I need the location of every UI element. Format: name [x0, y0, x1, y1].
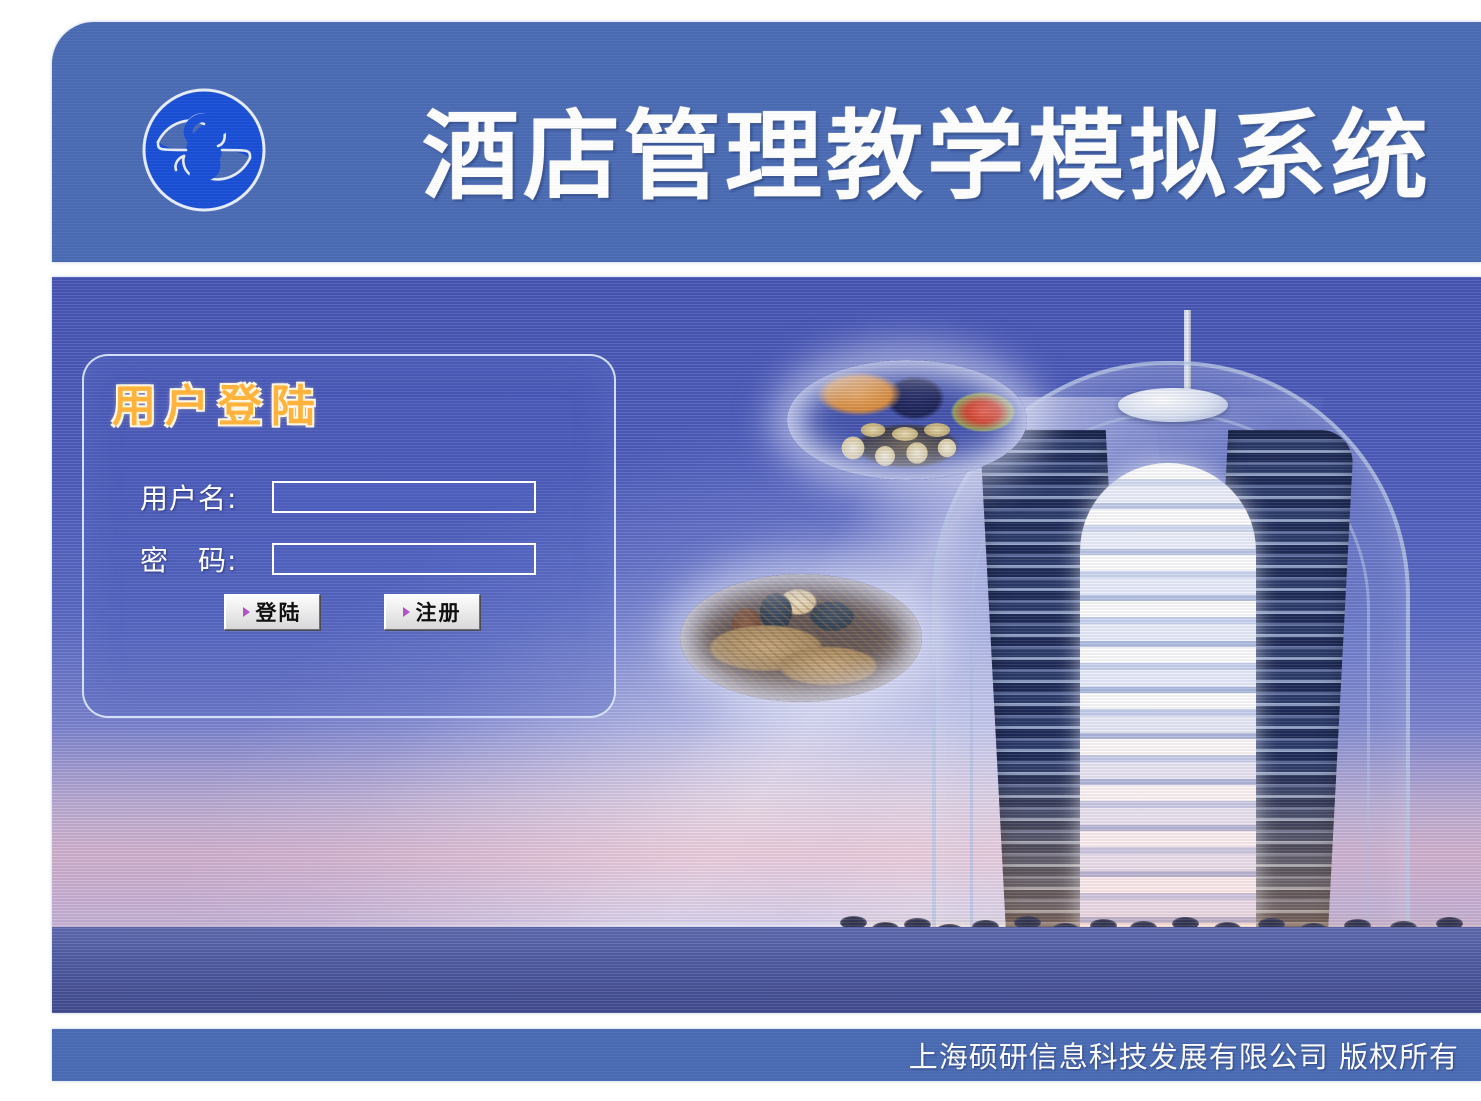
company-s-globe-logo-icon: [128, 80, 280, 220]
app-footer: 上海硕研信息科技发展有限公司 版权所有: [52, 1029, 1481, 1081]
hotel-room-photo: [680, 574, 922, 702]
username-row: 用户名:: [140, 479, 536, 515]
username-label: 用户名:: [140, 477, 272, 517]
login-button[interactable]: 登陆: [224, 594, 320, 630]
password-row: 密 码:: [140, 541, 536, 577]
login-panel-title: 用户登陆: [112, 370, 324, 434]
login-page: 酒店管理教学模拟系统: [0, 0, 1481, 1101]
triangle-right-icon: [243, 607, 250, 617]
login-button-label: 登陆: [256, 597, 302, 627]
tower-helipad: [1118, 388, 1228, 422]
beach-foreground: [52, 927, 1481, 1013]
register-button-label: 注册: [416, 597, 462, 627]
username-input[interactable]: [272, 481, 536, 513]
app-header: 酒店管理教学模拟系统: [52, 22, 1481, 262]
password-input[interactable]: [272, 543, 536, 575]
page-title: 酒店管理教学模拟系统: [422, 98, 1322, 218]
triangle-right-icon: [403, 607, 410, 617]
password-label: 密 码:: [140, 539, 272, 579]
register-button[interactable]: 注册: [384, 594, 480, 630]
login-button-row: 登陆 注册: [224, 594, 564, 632]
tower-atrium: [1080, 463, 1256, 975]
login-panel: 用户登陆 用户名: 密 码: 登陆 注册: [82, 354, 616, 718]
hero-collage: 用户登陆 用户名: 密 码: 登陆 注册: [52, 277, 1481, 1013]
banquet-food-photo: [787, 360, 1027, 480]
copyright-text: 上海硕研信息科技发展有限公司 版权所有: [909, 1034, 1459, 1076]
